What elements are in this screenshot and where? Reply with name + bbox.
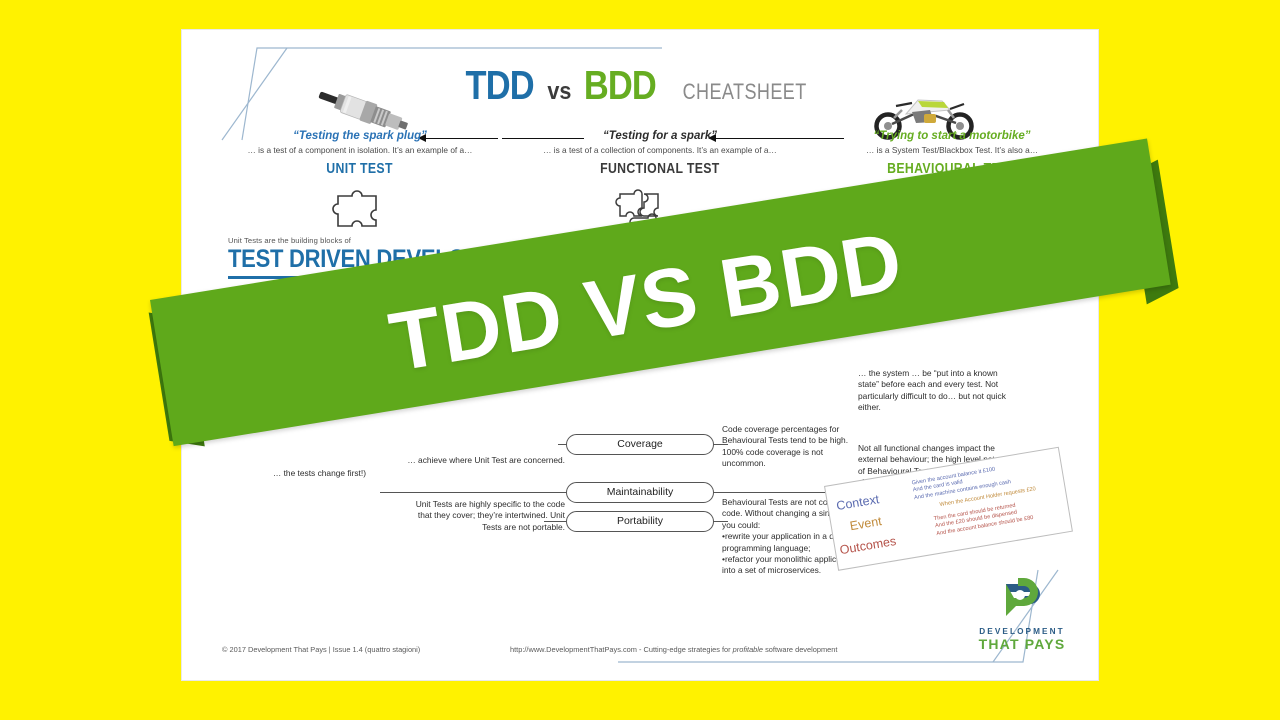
tdd-portability-text: Unit Tests are highly specific to the co… [400, 499, 565, 533]
title-tdd: TDD [466, 62, 534, 109]
bdd-pre-heading: Behavioural Tests are the building block… [740, 236, 890, 245]
gherkin-label-outcomes: Outcomes [839, 534, 897, 557]
column-unit-test: “Testing the spark plug” … is a test of … [240, 130, 480, 178]
functional-kind-label: FUNCTIONAL TEST [600, 160, 719, 177]
tdd-process-note: TDD is an “inside-out” process. The focu… [370, 278, 560, 301]
behavioural-kind-label: BEHAVIOURAL TEST [887, 160, 1016, 177]
functional-description: … is a test of a collection of component… [520, 145, 800, 155]
bdd-section-heading-group: Behavioural Tests are the building block… [740, 236, 890, 274]
single-puzzle-piece-icon [330, 188, 384, 236]
title-cheatsheet: CHEATSHEET [683, 79, 807, 105]
unit-kind-label: UNIT TEST [327, 160, 394, 177]
tdd-section-heading-group: Unit Tests are the building blocks of TE… [228, 236, 584, 279]
unit-description: … is a test of a component in isolation.… [240, 145, 480, 155]
logo-line-2: THAT PAYS [966, 636, 1078, 652]
tdd-heading: TEST DRIVEN DEVELOPMENT [228, 245, 541, 274]
screenshot-canvas: TDDvsBDDCHEATSHEET [0, 0, 1280, 720]
connector-maintainability-left [380, 492, 566, 493]
full-puzzle-grid-icon [888, 186, 958, 236]
connector-portability-right [712, 521, 728, 522]
pill-coverage[interactable]: Coverage [566, 434, 714, 455]
title-vs: vs [547, 78, 571, 106]
footer-copyright: © 2017 Development That Pays | Issue 1.4… [222, 645, 420, 654]
bdd-coverage-text: Code coverage percentages for Behavioura… [722, 424, 864, 470]
connector-portability-left [544, 521, 566, 522]
tdd-pre-heading: Unit Tests are the building blocks of [228, 236, 584, 245]
column-behavioural-test: “Trying to start a motorbike” … is a Sys… [830, 130, 1074, 178]
three-puzzle-pieces-icon [614, 188, 674, 242]
footer-url: http://www.DevelopmentThatPays.com - Cut… [510, 645, 837, 654]
tdd-coverage-text: … achieve where Unit Test are concerned. [380, 455, 565, 466]
gherkin-label-event: Event [849, 514, 883, 533]
behavioural-description: … is a System Test/Blackbox Test. It’s a… [830, 145, 1074, 155]
pill-portability[interactable]: Portability [566, 511, 714, 532]
connector-coverage-right [712, 444, 728, 445]
development-that-pays-logo-mark-icon [996, 578, 1048, 622]
title-bdd: BDD [584, 62, 656, 109]
tdd-tests-change-snippet: … the tests change first!) [246, 468, 366, 479]
banner-fold-right [1126, 160, 1179, 305]
bdd-heading: BDD [740, 245, 787, 274]
unit-quote: “Testing the spark plug” [240, 130, 480, 142]
logo-line-1: DEVELOPMENT [966, 627, 1078, 636]
gherkin-label-context: Context [835, 492, 880, 513]
tdd-who-writes-tests: Who writes the tests? The tests are writ… [228, 303, 498, 326]
pill-maintainability[interactable]: Maintainability [566, 482, 714, 503]
brand-logo: DEVELOPMENT THAT PAYS [966, 578, 1078, 652]
column-functional-test: “Testing for a spark” … is a test of a c… [520, 130, 800, 178]
bdd-known-state-text: … the system … be “put into a known stat… [858, 368, 1008, 414]
behavioural-quote: “Trying to start a motorbike” [830, 130, 1074, 142]
functional-quote: “Testing for a spark” [520, 130, 800, 142]
